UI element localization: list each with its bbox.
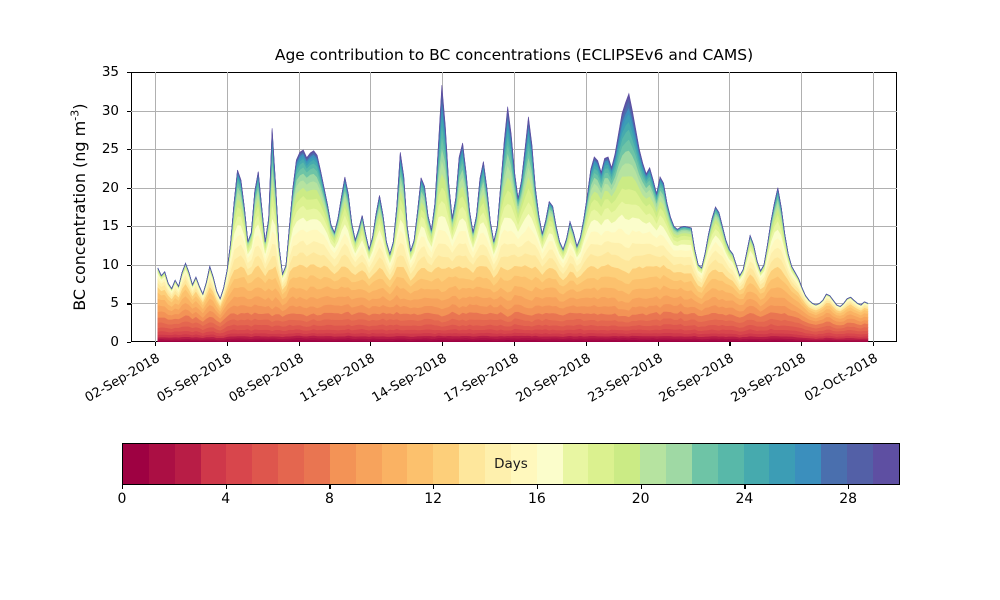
colorbar-band (485, 444, 511, 484)
x-tick-mark (801, 342, 802, 346)
y-tick-mark (127, 188, 131, 189)
y-tick-mark (127, 72, 131, 73)
colorbar-band (304, 444, 330, 484)
colorbar-band (278, 444, 304, 484)
colorbar-band (821, 444, 847, 484)
chart-title: Age contribution to BC concentrations (E… (131, 46, 897, 64)
figure-canvas: Age contribution to BC concentrations (E… (0, 0, 1000, 600)
colorbar-tick-label: 8 (325, 491, 334, 507)
colorbar-tick-label: 28 (839, 491, 857, 507)
stacked-area-plot (131, 72, 897, 342)
colorbar-band (149, 444, 175, 484)
y-tick-mark (127, 342, 131, 343)
colorbar-tick-mark (122, 485, 123, 489)
plot-axes (131, 72, 897, 342)
colorbar-band (382, 444, 408, 484)
y-tick-mark (127, 265, 131, 266)
colorbar-band (252, 444, 278, 484)
x-tick-mark (873, 342, 874, 346)
colorbar-band (123, 444, 149, 484)
colorbar-tick-label: 16 (528, 491, 546, 507)
colorbar-band (847, 444, 873, 484)
colorbar-tick-label: 4 (221, 491, 230, 507)
colorbar-tick-label: 12 (424, 491, 442, 507)
y-axis-label: BC concentration (ng m-3) (68, 104, 88, 311)
y-tick-label: 20 (79, 180, 119, 196)
colorbar-band (718, 444, 744, 484)
colorbar-tick-label: 24 (735, 491, 753, 507)
y-tick-label: 30 (79, 103, 119, 119)
x-tick-mark (155, 342, 156, 346)
colorbar-tick-mark (641, 485, 642, 489)
colorbar-band (795, 444, 821, 484)
colorbar-gradient (122, 443, 900, 485)
colorbar-tick-mark (329, 485, 330, 489)
colorbar-band (433, 444, 459, 484)
colorbar: Days (122, 443, 900, 485)
colorbar-tick-mark (848, 485, 849, 489)
x-tick-mark (514, 342, 515, 346)
y-tick-mark (127, 226, 131, 227)
colorbar-tick-mark (537, 485, 538, 489)
colorbar-band (769, 444, 795, 484)
y-tick-label: 5 (79, 295, 119, 311)
colorbar-band (640, 444, 666, 484)
colorbar-tick-mark (226, 485, 227, 489)
x-tick-mark (442, 342, 443, 346)
colorbar-band (563, 444, 589, 484)
colorbar-band (175, 444, 201, 484)
y-tick-mark (127, 111, 131, 112)
y-tick-label: 0 (79, 334, 119, 350)
colorbar-band (537, 444, 563, 484)
y-tick-mark (127, 303, 131, 304)
colorbar-band (201, 444, 227, 484)
x-tick-mark (658, 342, 659, 346)
colorbar-band (511, 444, 537, 484)
colorbar-band (666, 444, 692, 484)
colorbar-band (744, 444, 770, 484)
x-tick-mark (227, 342, 228, 346)
colorbar-band (330, 444, 356, 484)
colorbar-tick-label: 0 (118, 491, 127, 507)
colorbar-band (873, 444, 899, 484)
y-tick-label: 15 (79, 218, 119, 234)
colorbar-band (588, 444, 614, 484)
x-tick-mark (370, 342, 371, 346)
colorbar-band (226, 444, 252, 484)
colorbar-tick-label: 20 (632, 491, 650, 507)
colorbar-band (459, 444, 485, 484)
x-tick-mark (729, 342, 730, 346)
x-tick-mark (586, 342, 587, 346)
colorbar-band (614, 444, 640, 484)
y-tick-label: 35 (79, 64, 119, 80)
colorbar-tick-mark (433, 485, 434, 489)
y-tick-mark (127, 149, 131, 150)
colorbar-band (692, 444, 718, 484)
y-tick-label: 10 (79, 257, 119, 273)
colorbar-tick-mark (744, 485, 745, 489)
y-tick-label: 25 (79, 141, 119, 157)
colorbar-band (356, 444, 382, 484)
colorbar-band (407, 444, 433, 484)
x-tick-mark (299, 342, 300, 346)
